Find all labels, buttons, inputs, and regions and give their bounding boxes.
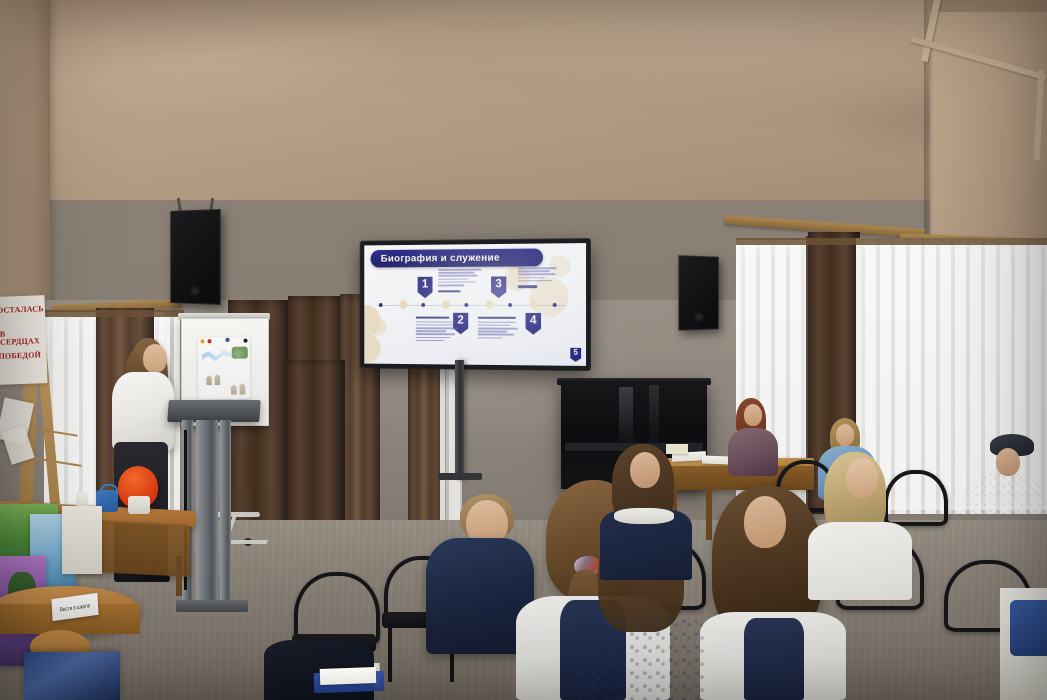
magnet-blue-icon — [225, 338, 229, 342]
timeline-badge-3: 3 — [491, 276, 506, 298]
exhibit-poster: ОСТАЛАСЬ В СЕРДЦАХ ПОБЕДОЙ — [0, 295, 48, 385]
left-table-leg — [176, 556, 182, 596]
poster-line-3: ПОБЕДОЙ — [0, 351, 41, 361]
drape-stage — [287, 360, 345, 535]
girl-right-head — [744, 496, 786, 548]
podium-post — [196, 420, 218, 602]
presentation-slide: Биография и служение 1 2 3 — [364, 243, 586, 366]
screen-stand-pole — [455, 360, 464, 480]
poster-line-2: В СЕРДЦАХ — [0, 329, 46, 347]
attendee-right-blouse — [962, 472, 1047, 558]
curtain-rail-left — [44, 310, 184, 317]
timeline-circle — [399, 300, 407, 309]
wall-pilaster-left — [0, 0, 50, 330]
slide-blob — [364, 334, 380, 363]
magnet-navy-icon — [243, 339, 247, 343]
blonde-blouse — [808, 522, 912, 600]
piano-reflection — [619, 387, 633, 443]
soffit-texture — [0, 0, 1047, 200]
chair-back-far[interactable] — [884, 470, 948, 526]
screen-stand-foot — [438, 473, 482, 480]
decoration-pot — [128, 496, 150, 514]
slide-page-number: 5 — [574, 348, 578, 358]
pa-speaker-right — [678, 255, 718, 330]
presenter-head — [143, 344, 167, 373]
jury-notebook — [666, 444, 688, 454]
slide-caption-2 — [416, 317, 459, 343]
slide-blob — [370, 318, 386, 335]
jury1-head — [744, 404, 762, 426]
timeline-circle — [485, 300, 494, 309]
presenter-blouse — [112, 372, 174, 450]
conference-hall-photo: Биография и служение 1 2 3 — [0, 0, 1047, 700]
curtain-rail-right — [736, 238, 1047, 245]
magnet-yellow-icon — [200, 339, 204, 343]
speaker-driver-icon — [694, 312, 704, 322]
flipchart-poster — [197, 337, 250, 400]
slide-caption-3 — [478, 317, 520, 341]
chair-leg — [388, 626, 392, 682]
poster-line-1: ОСТАЛАСЬ — [0, 305, 44, 315]
piano-reflection — [649, 385, 659, 445]
pa-speaker-left — [170, 209, 220, 305]
magnet-red-icon — [207, 339, 211, 343]
poster-trees-drawing — [232, 347, 248, 359]
folder-papers — [320, 667, 377, 685]
podium-top — [167, 400, 261, 422]
podium-base — [176, 600, 248, 612]
gift-bag-handle — [100, 484, 118, 495]
duct-lip — [930, 0, 1047, 12]
podium-post — [220, 420, 231, 602]
jury1-top — [728, 428, 778, 476]
timeline-dot — [421, 303, 425, 307]
poster-church-drawing — [204, 371, 224, 385]
timeline-dot — [508, 303, 512, 307]
slide-title-bar: Биография и служение — [371, 248, 543, 267]
timeline-dot — [553, 303, 557, 307]
timeline-badge-4: 4 — [526, 313, 541, 335]
jury-table-leg — [706, 488, 712, 540]
badge-number: 1 — [422, 277, 428, 292]
blonde-head — [846, 458, 878, 498]
name-card-label: Вести в школе — [60, 602, 91, 613]
slide-caption-1 — [438, 269, 481, 295]
projection-screen[interactable]: Биография и служение 1 2 3 — [361, 239, 590, 370]
timeline-dot — [379, 303, 383, 307]
timeline-circle — [442, 300, 450, 309]
slide-title: Биография и служение — [381, 252, 500, 265]
speaker-driver-icon — [190, 286, 200, 296]
slide-caption-4 — [518, 267, 561, 290]
audience-right-bag — [1010, 600, 1047, 656]
timeline-dot — [464, 303, 468, 307]
badge-number: 4 — [530, 313, 536, 328]
poster-church-drawing-2 — [228, 381, 246, 395]
girl-right-pinafore — [744, 618, 804, 700]
table-display-folder — [24, 652, 120, 700]
slide-page-badge: 5 — [570, 348, 581, 362]
poster-river-drawing — [202, 345, 232, 368]
exhibit-photo-board-3 — [62, 506, 102, 574]
back-right-collar — [614, 508, 674, 524]
girl-left-patterned-collar — [576, 616, 706, 700]
back-right-head — [630, 452, 660, 488]
timeline-badge-1: 1 — [418, 277, 433, 298]
timeline-circle — [529, 300, 538, 309]
ceiling-duct-right — [930, 0, 1047, 250]
badge-number: 3 — [495, 276, 501, 291]
jury2-head — [836, 424, 854, 446]
